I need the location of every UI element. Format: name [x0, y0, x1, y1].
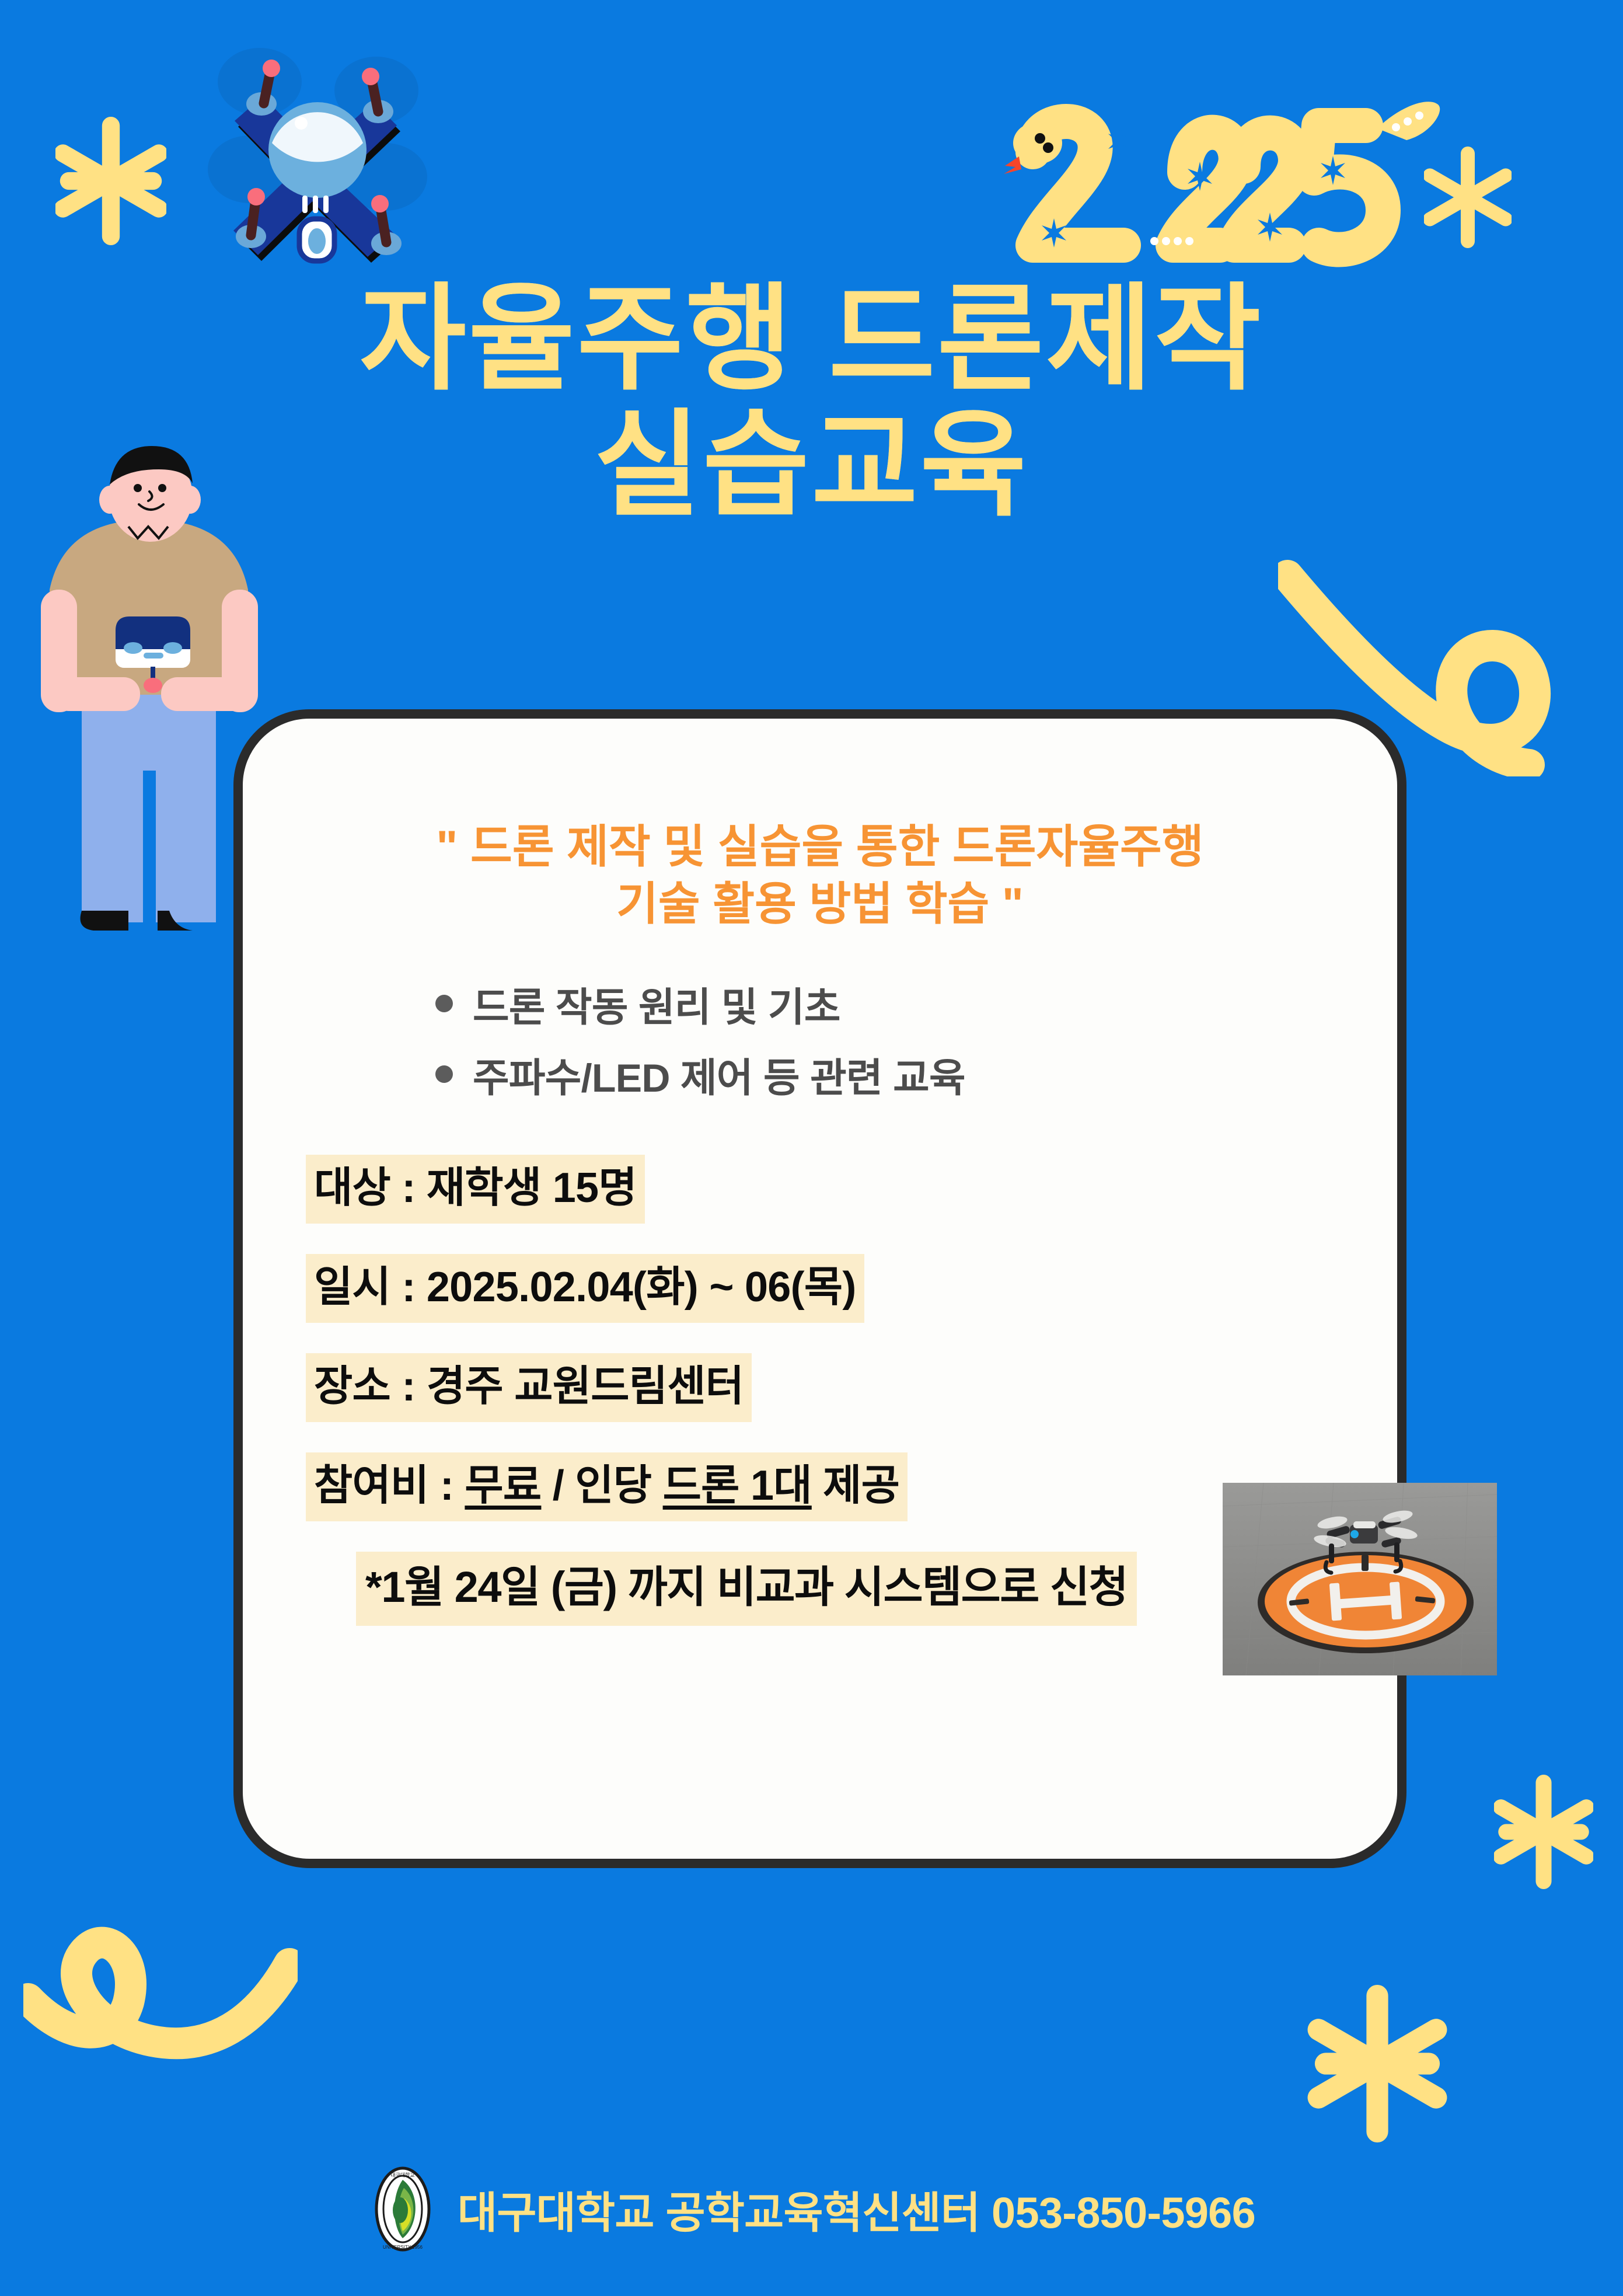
poster-footer: 대구대학교 UNIVERSITY 1956 대구대학교 공학교육혁신센터 053… [0, 2166, 1623, 2252]
detail-date-value: 일시 : 2025.02.04(화) ~ 06(목) [306, 1254, 864, 1323]
curriculum-bullet-list: 드론 작동 원리 및 기초 주파수/LED 제어 등 관련 교육 [243, 975, 1397, 1103]
swirl-decoration-left-bottom [23, 1891, 298, 2087]
bullet-dot-icon [435, 1065, 453, 1083]
fee-underline-drone: 드론 1대 [663, 1462, 812, 1509]
content-card: " 드론 제작 및 실습을 통한 드론자율주행 기술 활용 방법 학습 " 드론… [233, 709, 1406, 1868]
detail-row-location: 장소 : 경주 교원드림센터 [306, 1353, 1397, 1422]
bullet-label: 드론 작동 원리 및 기초 [473, 975, 840, 1033]
deadline-text: *1월 24일 (금) 까지 비교과 시스템으로 신청 [356, 1552, 1137, 1626]
fee-prefix: 참여비 : [314, 1462, 465, 1509]
bullet-dot-icon [435, 995, 453, 1012]
year-2025-snake-illustration [969, 70, 1447, 286]
poster-canvas: 자율주행 드론제작 실습교육 [0, 0, 1623, 2296]
sparkle-icon-bottom-right [1307, 1985, 1447, 2142]
svg-text:UNIVERSITY 1956: UNIVERSITY 1956 [383, 2245, 423, 2250]
title-line-2: 실습교육 [0, 406, 1623, 524]
fee-underline-free: 무료 [465, 1462, 541, 1509]
quote-line-1: " 드론 제작 및 실습을 통한 드론자율주행 [278, 818, 1362, 875]
drone-illustration-icon [193, 26, 444, 266]
poster-title: 자율주행 드론제작 실습교육 [0, 280, 1623, 524]
svg-text:대구대학교: 대구대학교 [390, 2172, 414, 2178]
fee-suffix: 제공 [812, 1462, 899, 1509]
title-line-1: 자율주행 드론제작 [0, 280, 1623, 398]
drone-helipad-photo [1223, 1483, 1497, 1675]
detail-row-target: 대상 : 재학생 15명 [306, 1155, 1397, 1224]
program-quote: " 드론 제작 및 실습을 통한 드론자율주행 기술 활용 방법 학습 " [243, 818, 1397, 933]
sparkle-icon-top-left [55, 117, 166, 245]
sparkle-icon-mid-right [1494, 1775, 1593, 1889]
footer-organization-and-phone: 대구대학교 공학교육혁신센터 053-850-5966 [458, 2178, 1255, 2241]
detail-row-date: 일시 : 2025.02.04(화) ~ 06(목) [306, 1254, 1397, 1323]
list-item: 드론 작동 원리 및 기초 [435, 975, 1397, 1033]
bullet-label: 주파수/LED 제어 등 관련 교육 [473, 1046, 965, 1103]
daegu-university-logo-icon: 대구대학교 UNIVERSITY 1956 [368, 2166, 438, 2252]
list-item: 주파수/LED 제어 등 관련 교육 [435, 1046, 1397, 1103]
fee-mid: / 인당 [541, 1462, 662, 1509]
detail-target-value: 대상 : 재학생 15명 [306, 1155, 645, 1224]
detail-location-value: 장소 : 경주 교원드림센터 [306, 1353, 752, 1422]
quote-line-2: 기술 활용 방법 학습 " [278, 875, 1362, 932]
detail-fee-value: 참여비 : 무료 / 인당 드론 1대 제공 [306, 1452, 908, 1521]
